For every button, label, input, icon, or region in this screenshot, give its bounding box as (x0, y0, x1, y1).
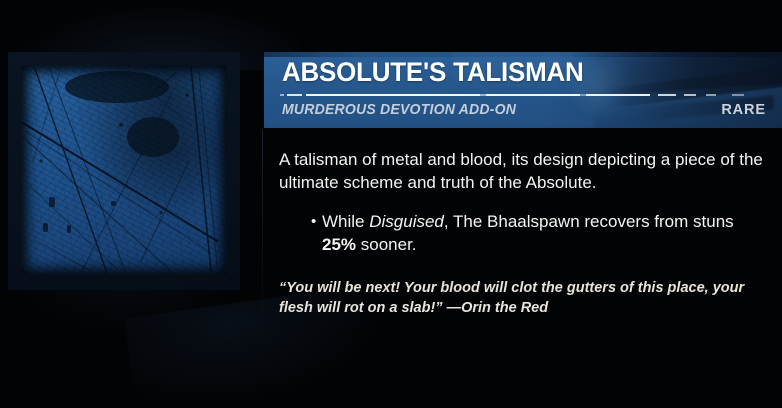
panel-divider (262, 130, 263, 340)
effect-value: 25% (322, 235, 356, 254)
item-effect-list: While Disguised, The Bhaalspawn recovers… (264, 194, 782, 256)
item-flavor-text: “You will be next! Your blood will clot … (264, 256, 782, 318)
item-name: ABSOLUTE'S TALISMAN (282, 57, 584, 88)
item-rarity-label: RARE (721, 102, 766, 118)
item-subtitle: MURDEROUS DEVOTION ADD-ON (282, 102, 516, 118)
effect-suffix: sooner. (356, 235, 417, 254)
item-icon-frame (8, 52, 240, 290)
item-description: A talisman of metal and blood, its desig… (264, 134, 782, 194)
item-body: A talisman of metal and blood, its desig… (264, 134, 782, 344)
item-tooltip: ABSOLUTE'S TALISMAN MURDEROUS DEVOTION A… (0, 0, 782, 408)
banner-brush-stroke (582, 52, 782, 97)
effect-middle: , The Bhaalspawn recovers from stuns (444, 212, 734, 231)
effect-emphasis: Disguised (369, 212, 444, 231)
icon-vignette (21, 65, 227, 275)
item-effect: While Disguised, The Bhaalspawn recovers… (311, 210, 766, 256)
title-divider (280, 94, 770, 96)
item-header-banner: ABSOLUTE'S TALISMAN MURDEROUS DEVOTION A… (264, 52, 782, 128)
talisman-icon (21, 65, 227, 275)
effect-prefix: While (322, 212, 369, 231)
item-icon-panel (0, 34, 262, 324)
